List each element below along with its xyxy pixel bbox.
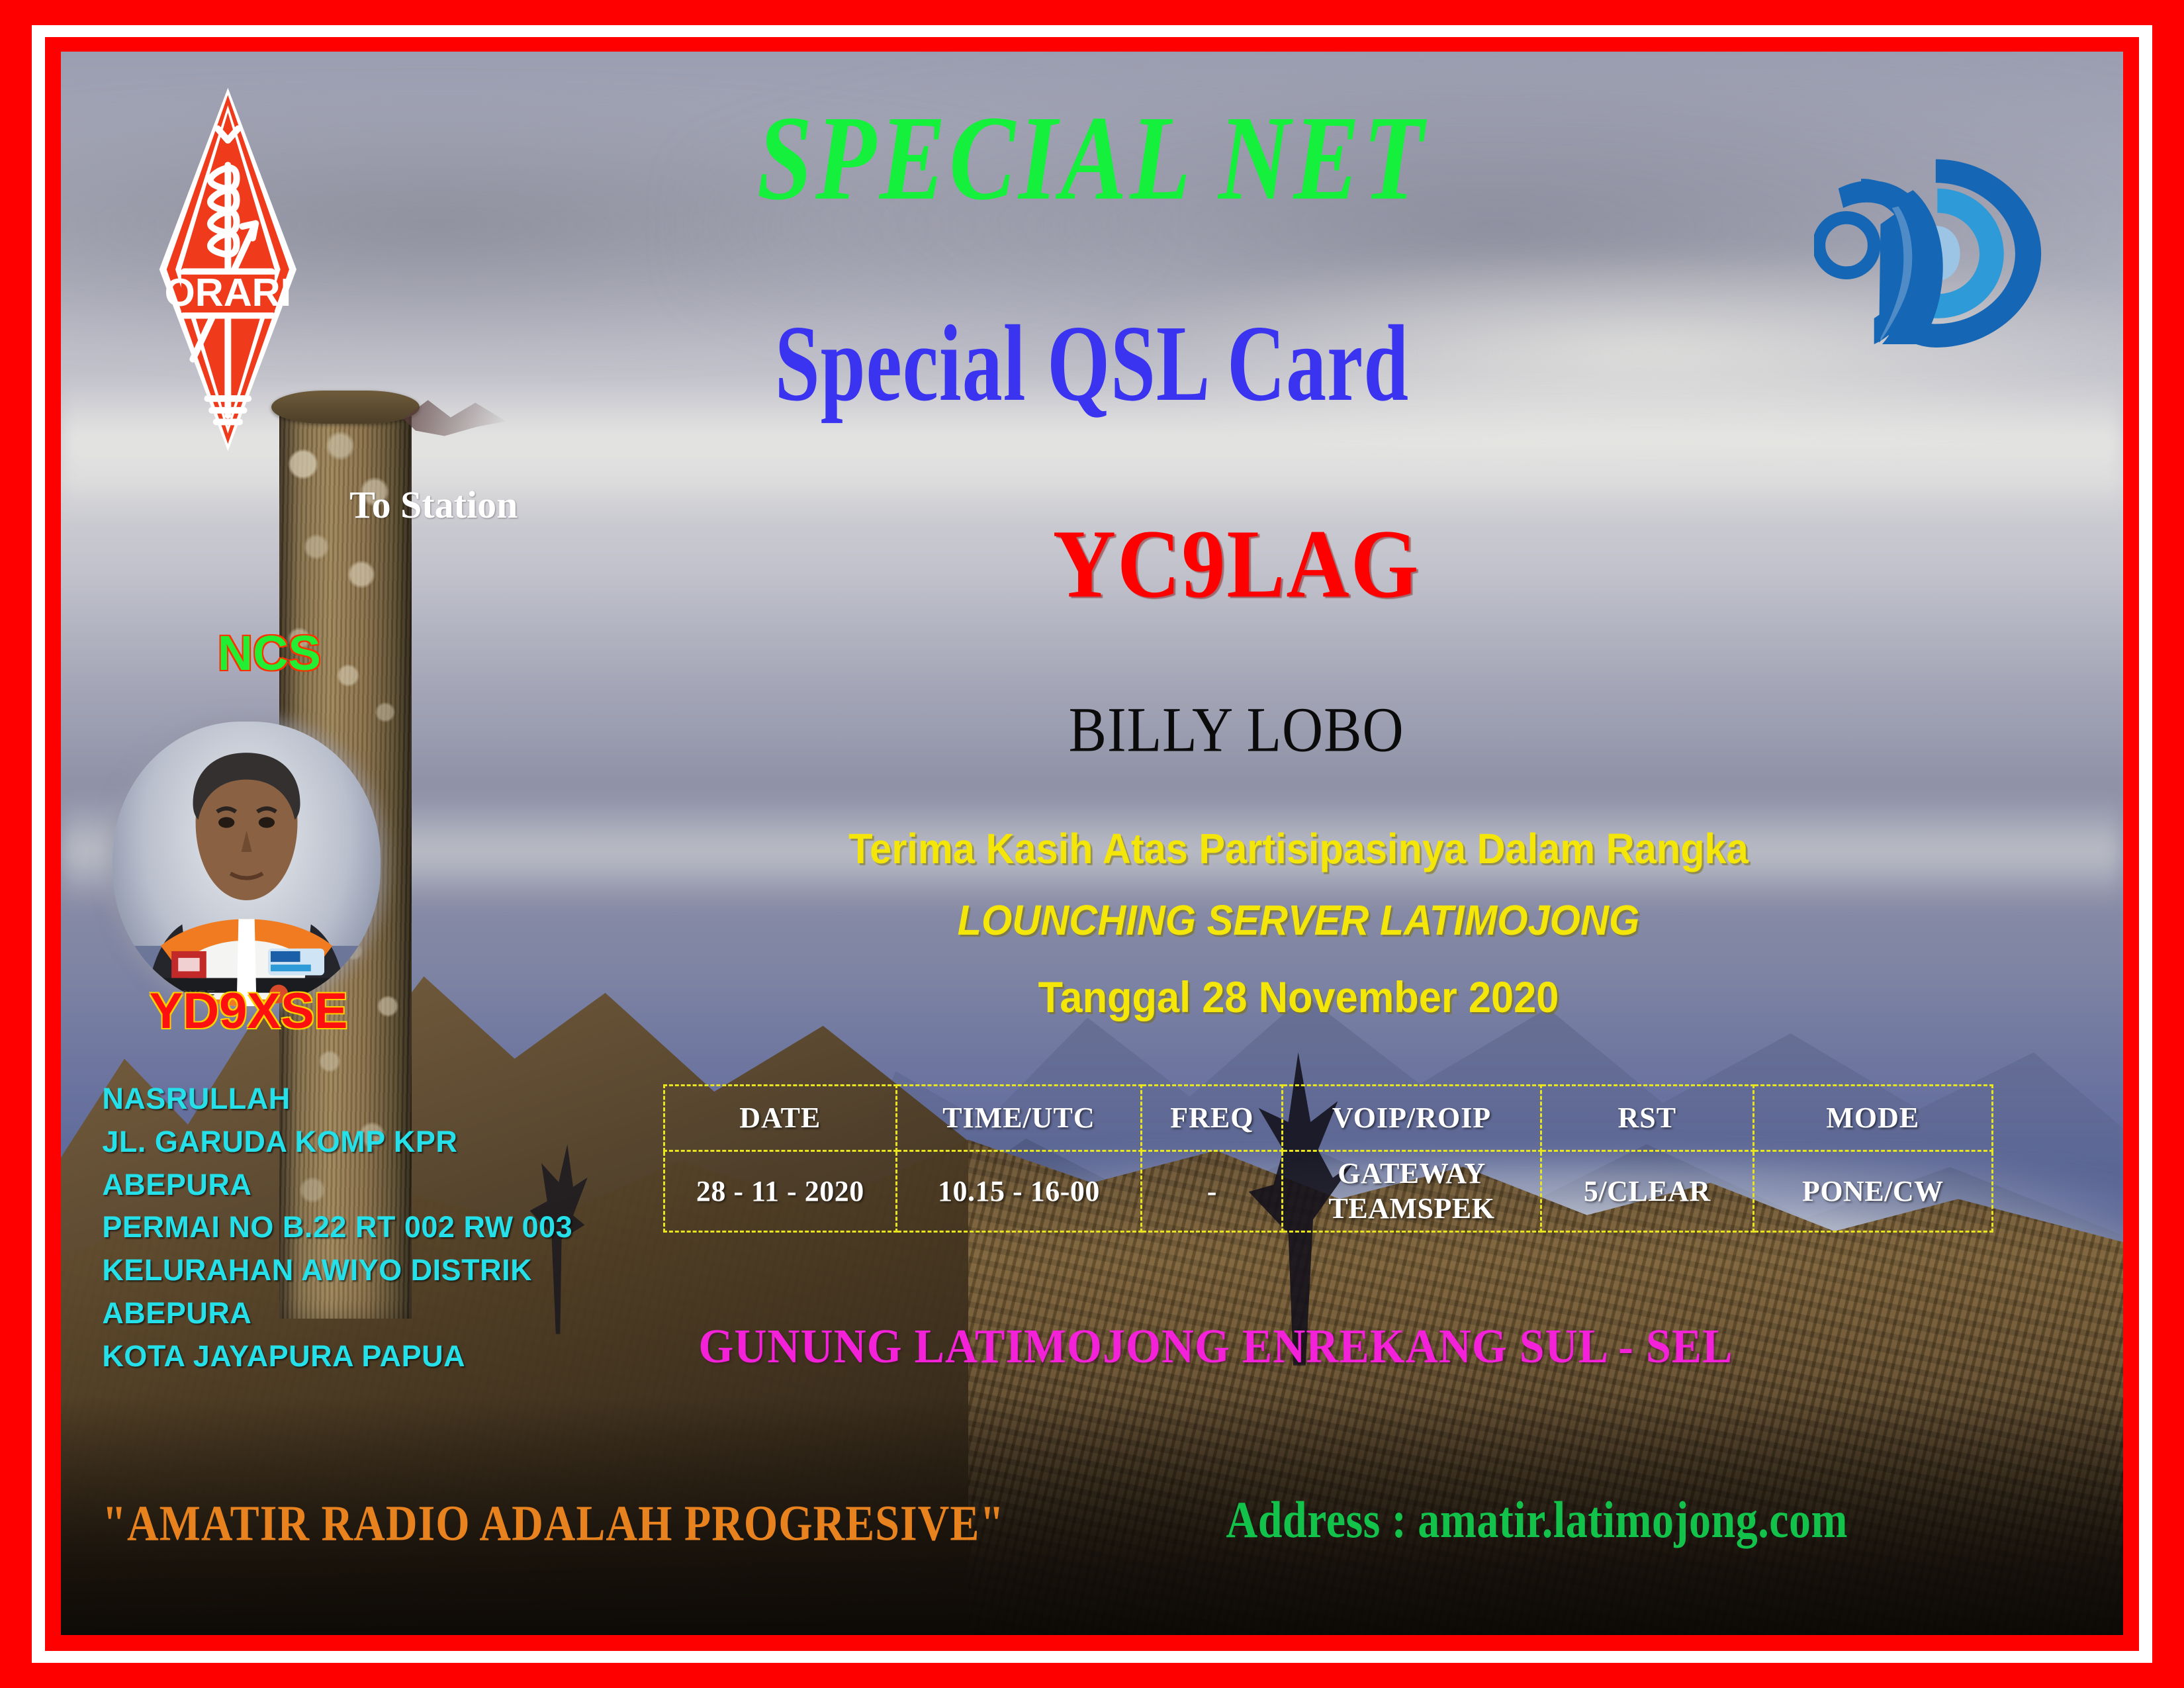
station-callsign: YC9LAG xyxy=(803,515,1670,613)
cell-mode: PONE/CW xyxy=(1753,1150,1992,1231)
orari-wordmark: ORARI xyxy=(165,270,292,314)
event-line: LOUNCHING SERVER LATIMOJONG xyxy=(704,899,1893,941)
cell-rst: 5/CLEAR xyxy=(1541,1150,1753,1231)
qsl-card: ORARI SPECIAL NET Special QSL Card To St… xyxy=(0,0,2184,1688)
cell-voip-line2: TEAMSPEK xyxy=(1285,1191,1538,1227)
to-station-label: To Station xyxy=(349,483,518,527)
cell-time: 10.15 - 16-00 xyxy=(896,1150,1142,1231)
operator-name: BILLY LOBO xyxy=(803,698,1670,761)
address-line-3: ABEPURA xyxy=(102,1164,572,1207)
header-time: TIME/UTC xyxy=(896,1085,1142,1150)
place-line: GUNUNG LATIMOJONG ENREKANG SUL - SEL xyxy=(597,1321,1835,1370)
table-header-row: DATE TIME/UTC FREQ VOIP/ROIP RST MODE xyxy=(664,1085,1992,1150)
cell-voip: GATEWAY TEAMSPEK xyxy=(1283,1150,1541,1231)
header-freq: FREQ xyxy=(1142,1085,1283,1150)
address-line-5: KELURAHAN AWIYO DISTRIK xyxy=(102,1249,572,1292)
address-line-7: KOTA JAYAPURA PAPUA xyxy=(102,1335,572,1378)
web-address: Address : amatir.latimojong.com xyxy=(1226,1495,1848,1546)
page-title-special-net: SPECIAL NET xyxy=(61,98,2123,219)
header-rst: RST xyxy=(1541,1085,1753,1150)
event-date-line: Tanggal 28 November 2020 xyxy=(704,975,1893,1019)
cell-freq: - xyxy=(1142,1150,1283,1231)
thanks-line: Terima Kasih Atas Partisipasinya Dalam R… xyxy=(704,827,1893,870)
table-row: 28 - 11 - 2020 10.15 - 16-00 - GATEWAY T… xyxy=(664,1150,1992,1231)
subtitle-special-qsl-card: Special QSL Card xyxy=(61,310,2123,419)
ncs-operator-avatar: YD9XSE xyxy=(113,722,381,1007)
cell-date: 28 - 11 - 2020 xyxy=(664,1150,896,1231)
header-voip: VOIP/ROIP xyxy=(1283,1085,1541,1150)
cell-voip-line1: GATEWAY xyxy=(1285,1156,1538,1192)
card-photo-background: ORARI SPECIAL NET Special QSL Card To St… xyxy=(61,52,2123,1635)
ncs-callsign: YD9XSE xyxy=(94,982,403,1040)
header-date: DATE xyxy=(664,1085,896,1150)
ncs-label: NCS xyxy=(114,625,424,681)
motto-text: "AMATIR RADIO ADALAH PROGRESIVE" xyxy=(102,1499,1005,1550)
address-line-1: NASRULLAH xyxy=(102,1078,572,1121)
header-mode: MODE xyxy=(1753,1085,1992,1150)
qso-log-table: DATE TIME/UTC FREQ VOIP/ROIP RST MODE 28… xyxy=(663,1084,1993,1233)
address-line-4: PERMAI NO B.22 RT 002 RW 003 xyxy=(102,1206,572,1249)
address-line-2: JL. GARUDA KOMP KPR xyxy=(102,1121,572,1164)
station-address-block: NASRULLAHJL. GARUDA KOMP KPRABEPURAPERMA… xyxy=(102,1078,572,1378)
address-line-6: ABEPURA xyxy=(102,1292,572,1335)
